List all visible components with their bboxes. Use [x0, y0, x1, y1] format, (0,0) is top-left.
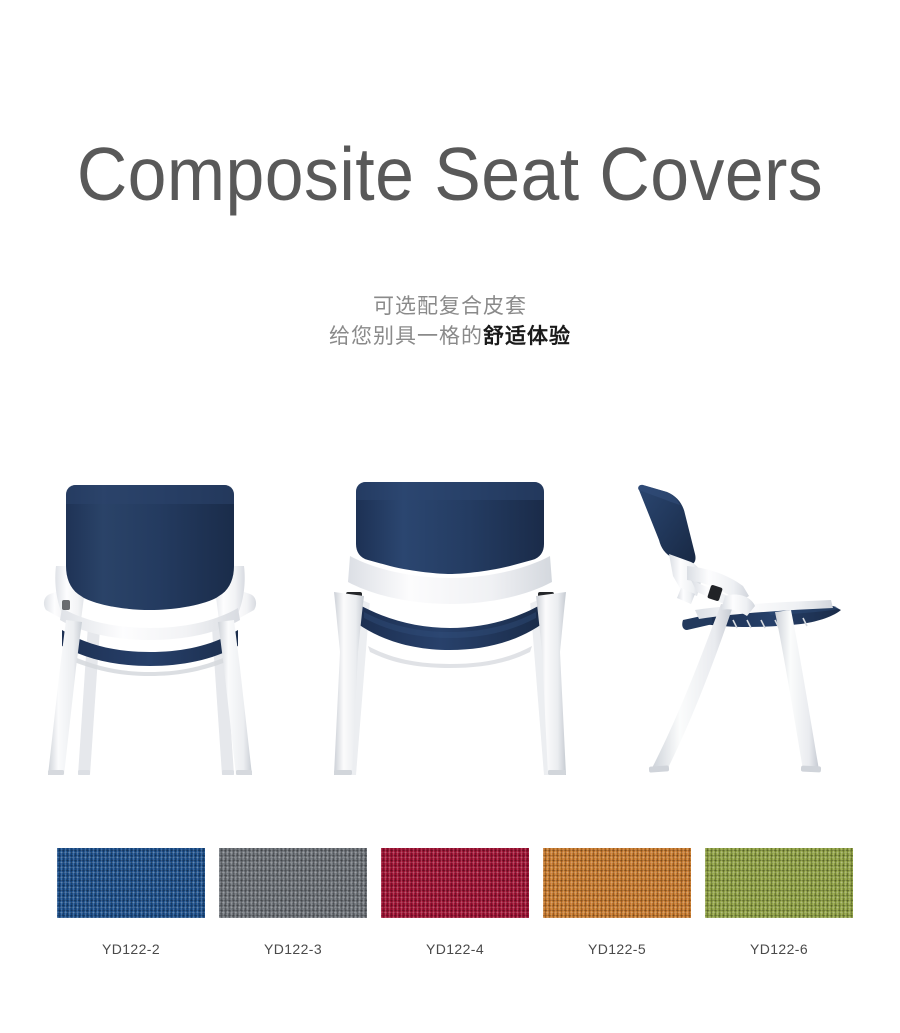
swatch-green[interactable]: YD122-6: [705, 848, 853, 958]
swatch-red-label: YD122-4: [426, 940, 484, 958]
chair-gallery: [0, 470, 900, 800]
subtitle-line-2-normal: 给您别具一格的: [329, 325, 483, 348]
subtitle-line-2-emphasis: 舒适体验: [483, 325, 571, 348]
chair-foot-rear-left: [78, 770, 90, 775]
chair-foot-front-right: [548, 770, 566, 775]
chair-foot-rear: [649, 765, 669, 772]
chair-foot-front-left: [48, 770, 64, 775]
subtitle-block: 可选配复合皮套 给您别具一格的舒适体验: [0, 292, 900, 352]
chair-hinge-left: [62, 600, 70, 610]
swatch-red[interactable]: YD122-4: [381, 848, 529, 958]
swatch-blue-chip[interactable]: [57, 848, 205, 918]
hero-section: Composite Seat Covers: [0, 128, 900, 220]
swatch-gray[interactable]: YD122-3: [219, 848, 367, 958]
chair-leg-rear: [651, 604, 733, 770]
page-title: Composite Seat Covers: [32, 128, 869, 220]
product-feature-page: Composite Seat Covers 可选配复合皮套 给您别具一格的舒适体…: [0, 0, 900, 1033]
swatch-blue[interactable]: YD122-2: [57, 848, 205, 958]
chair-foot-front: [801, 765, 821, 772]
swatch-blue-label: YD122-2: [102, 940, 160, 958]
chair-front-view-illustration: [320, 470, 580, 790]
swatch-orange-chip[interactable]: [543, 848, 691, 918]
swatch-red-chip[interactable]: [381, 848, 529, 918]
chair-side-view: [600, 470, 900, 800]
chair-foot-front-left: [334, 770, 352, 775]
chair-backrest-highlight: [66, 485, 234, 504]
chair-front-view: [300, 470, 600, 800]
chair-leg-front: [775, 610, 819, 770]
chair-side-view-illustration: [625, 470, 875, 790]
swatch-gray-label: YD122-3: [264, 940, 322, 958]
fabric-swatch-row: YD122-2 YD122-3 YD122-4 YD122-5 YD122-6: [57, 848, 855, 958]
chair-foot-front-right: [236, 770, 252, 775]
chair-foot-rear-right: [222, 770, 234, 775]
chair-backrest-highlight: [356, 482, 544, 500]
chair-leg-front-left: [48, 620, 82, 775]
subtitle-line-2: 给您别具一格的舒适体验: [0, 322, 900, 352]
subtitle-line-1: 可选配复合皮套: [0, 292, 900, 322]
swatch-gray-chip[interactable]: [219, 848, 367, 918]
chair-back-view: [0, 470, 300, 800]
chair-back-view-illustration: [20, 470, 280, 790]
swatch-green-label: YD122-6: [750, 940, 808, 958]
swatch-orange[interactable]: YD122-5: [543, 848, 691, 958]
swatch-orange-label: YD122-5: [588, 940, 646, 958]
swatch-green-chip[interactable]: [705, 848, 853, 918]
